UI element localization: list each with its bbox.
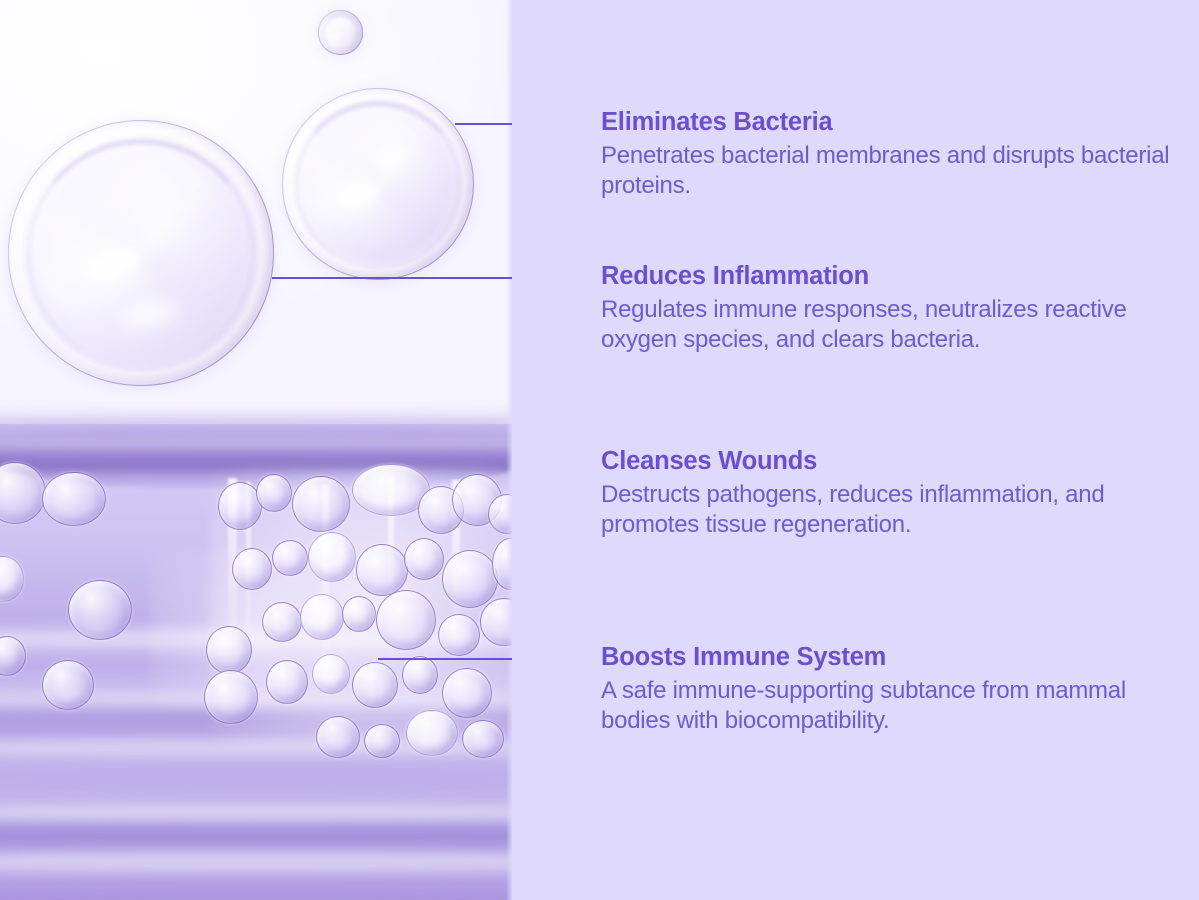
feature-item-eliminates-bacteria: Eliminates Bacteria Penetrates bacterial… xyxy=(601,108,1181,201)
wave-mid-2 xyxy=(0,764,512,792)
submerged-bubble xyxy=(272,540,308,576)
bubble-highlight-a xyxy=(76,239,147,292)
submerged-bubble xyxy=(376,590,436,650)
feature-item-cleanses-wounds: Cleanses Wounds Destructs pathogens, red… xyxy=(601,447,1181,540)
submerged-bubble xyxy=(356,544,408,596)
feature-item-boosts-immune-system: Boosts Immune System A safe immune-suppo… xyxy=(601,643,1181,736)
bubble-highlight-a xyxy=(330,33,342,40)
submerged-bubble xyxy=(262,602,302,642)
submerged-bubble xyxy=(308,532,356,582)
submerged-bubble xyxy=(404,538,444,580)
feature-description: Destructs pathogens, reduces inflammatio… xyxy=(601,480,1181,540)
submerged-bubble xyxy=(352,662,398,708)
submerged-bubble xyxy=(342,596,376,632)
bubble-highlight-a xyxy=(333,177,385,216)
bubble-rim-shadow xyxy=(8,120,274,386)
bubble-sheen xyxy=(35,147,248,360)
bubble-sheen xyxy=(301,107,455,261)
submerged-bubble xyxy=(442,668,492,718)
bubble-sheen xyxy=(323,15,359,51)
wave-light-4 xyxy=(0,802,512,824)
submerged-bubble xyxy=(204,670,258,724)
submerged-bubble xyxy=(266,660,308,704)
bubble-large xyxy=(8,120,274,386)
features-panel: Eliminates Bacteria Penetrates bacterial… xyxy=(512,0,1199,900)
bubble-medium xyxy=(282,88,474,280)
submerged-bubble xyxy=(300,594,344,640)
submerged-bubble xyxy=(206,626,252,674)
surface-band-1 xyxy=(0,414,512,428)
wave-mid-3 xyxy=(0,876,512,898)
bubble-small xyxy=(318,10,363,55)
feature-title: Eliminates Bacteria xyxy=(601,108,1181,137)
submerged-bubble xyxy=(462,720,504,758)
submerged-bubble xyxy=(442,550,498,608)
submerged-bubble xyxy=(42,660,94,710)
feature-title: Cleanses Wounds xyxy=(601,447,1181,476)
submerged-bubble xyxy=(402,656,438,694)
infographic-poster: Eliminates Bacteria Penetrates bacterial… xyxy=(0,0,1199,900)
feature-description: Regulates immune responses, neutralizes … xyxy=(601,295,1181,355)
surface-highlight-2 xyxy=(0,442,512,451)
bubble-highlight-b xyxy=(112,290,187,339)
illustration-panel xyxy=(0,0,512,900)
submerged-bubble xyxy=(364,724,400,758)
feature-title: Reduces Inflammation xyxy=(601,262,1181,291)
feature-description: Penetrates bacterial membranes and disru… xyxy=(601,141,1181,201)
bubble-highlight-b xyxy=(369,143,410,171)
submerged-bubble xyxy=(292,476,350,532)
feature-title: Boosts Immune System xyxy=(601,643,1181,672)
submerged-bubble xyxy=(232,548,272,590)
feature-description: A safe immune-supporting subtance from m… xyxy=(601,676,1181,736)
wave-light-5 xyxy=(0,850,512,874)
submerged-bubble xyxy=(68,580,132,640)
submerged-bubble xyxy=(256,474,292,512)
liquid-body xyxy=(0,398,512,900)
bubble-rim-shadow xyxy=(282,88,474,280)
wave-dark-2 xyxy=(0,826,512,844)
bubble-rim-shadow xyxy=(318,10,363,55)
submerged-bubble xyxy=(312,654,350,694)
submerged-bubble xyxy=(438,614,480,656)
submerged-bubble xyxy=(42,472,106,526)
submerged-bubble xyxy=(316,716,360,758)
submerged-bubble xyxy=(406,710,458,756)
feature-item-reduces-inflammation: Reduces Inflammation Regulates immune re… xyxy=(601,262,1181,355)
